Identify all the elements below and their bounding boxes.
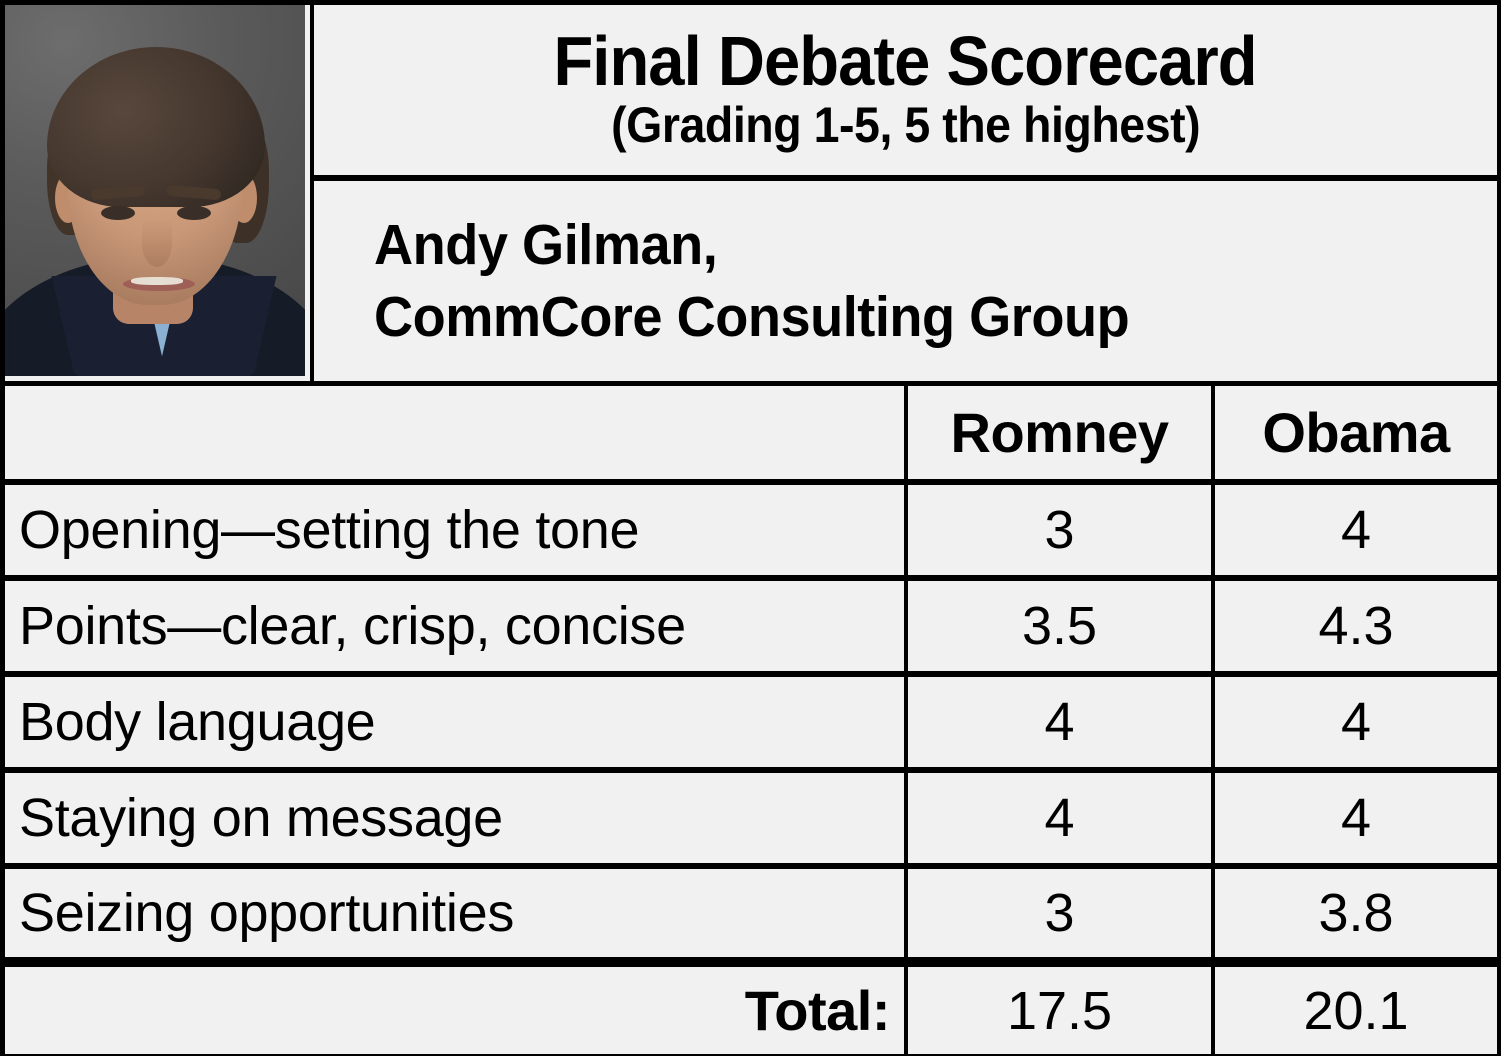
scorecard-table-wrap: Romney Obama Opening—setting the tone 3 …: [0, 381, 1501, 1056]
criteria-label: Staying on message: [5, 770, 906, 866]
photo-eye-left: [101, 206, 135, 220]
romney-score: 3: [906, 866, 1213, 962]
table-row: Opening—setting the tone 3 4: [5, 482, 1497, 578]
criteria-label: Opening—setting the tone: [5, 482, 906, 578]
photo-eye-right: [177, 206, 211, 220]
obama-score: 4: [1213, 770, 1497, 866]
photo-teeth: [131, 277, 183, 285]
analyst-organization: CommCore Consulting Group: [374, 281, 1441, 353]
analyst-name: Andy Gilman,: [374, 209, 1441, 281]
obama-score: 4: [1213, 482, 1497, 578]
table-header-row: Romney Obama: [5, 386, 1497, 482]
table-row: Body language 4 4: [5, 674, 1497, 770]
total-label: Total:: [5, 962, 906, 1054]
debate-scorecard-graphic: Final Debate Scorecard (Grading 1-5, 5 t…: [0, 0, 1501, 1056]
scorecard-table: Romney Obama Opening—setting the tone 3 …: [5, 386, 1497, 1054]
page-subtitle: (Grading 1-5, 5 the highest): [611, 98, 1200, 152]
column-header-romney: Romney: [906, 386, 1213, 482]
table-total-row: Total: 17.5 20.1: [5, 962, 1497, 1054]
scorecard-header-block: Final Debate Scorecard (Grading 1-5, 5 t…: [0, 0, 1501, 381]
romney-score: 4: [906, 770, 1213, 866]
analyst-name-cell: Andy Gilman, CommCore Consulting Group: [310, 181, 1497, 381]
table-row: Staying on message 4 4: [5, 770, 1497, 866]
table-row: Seizing opportunities 3 3.8: [5, 866, 1497, 962]
column-header-criteria: [5, 386, 906, 482]
column-header-obama: Obama: [1213, 386, 1497, 482]
obama-score: 4: [1213, 674, 1497, 770]
criteria-label: Seizing opportunities: [5, 866, 906, 962]
criteria-label: Body language: [5, 674, 906, 770]
romney-score: 4: [906, 674, 1213, 770]
romney-total: 17.5: [906, 962, 1213, 1054]
obama-score: 3.8: [1213, 866, 1497, 962]
analyst-headshot-photo: [5, 5, 305, 376]
photo-nose: [142, 219, 172, 267]
page-title: Final Debate Scorecard: [554, 24, 1257, 98]
criteria-label: Points—clear, crisp, concise: [5, 578, 906, 674]
romney-score: 3: [906, 482, 1213, 578]
romney-score: 3.5: [906, 578, 1213, 674]
table-row: Points—clear, crisp, concise 3.5 4.3: [5, 578, 1497, 674]
obama-total: 20.1: [1213, 962, 1497, 1054]
title-cell: Final Debate Scorecard (Grading 1-5, 5 t…: [310, 5, 1497, 175]
obama-score: 4.3: [1213, 578, 1497, 674]
